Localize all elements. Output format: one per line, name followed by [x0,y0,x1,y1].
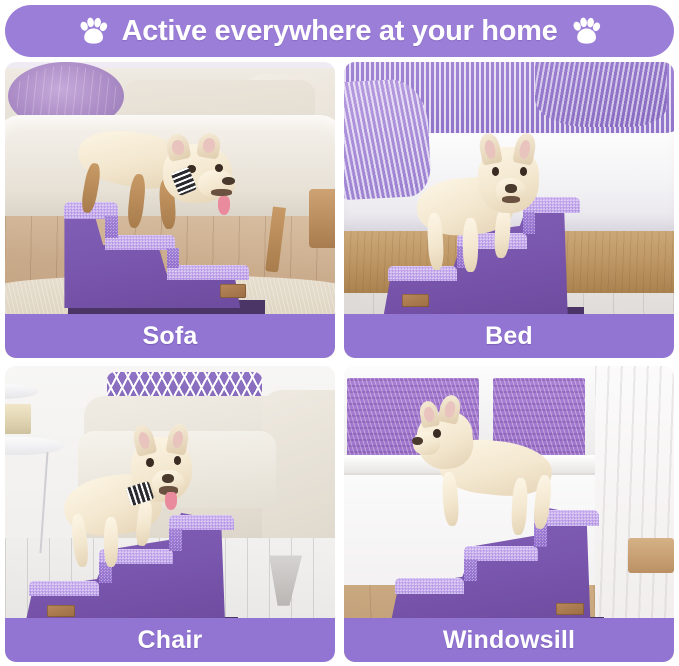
brand-logo-tag [47,605,75,617]
panel-label-windowsill: Windowsill [443,626,575,655]
paw-print-icon [571,17,601,45]
panel-sofa[interactable]: Sofa [5,62,335,358]
brand-logo-tag [220,284,247,298]
header-title: Active everywhere at your home [122,15,558,48]
paw-print-icon [78,17,108,45]
panel-label-chair: Chair [138,626,203,655]
label-bar-chair: Chair [5,618,335,662]
panel-bed[interactable]: Bed [344,62,674,358]
header-banner: Active everywhere at your home [5,5,674,57]
label-bar-sofa: Sofa [5,314,335,358]
blanket-fold [535,62,667,127]
stacked-books [5,404,31,434]
french-bulldog [64,425,216,573]
feature-grid: Sofa [5,62,674,662]
panel-windowsill[interactable]: Windowsill [344,366,674,662]
panel-chair[interactable]: Chair [5,366,335,662]
panel-label-bed: Bed [485,322,533,351]
french-bulldog [78,115,250,233]
french-bulldog [417,390,582,532]
label-bar-bed: Bed [344,314,674,358]
brand-logo-tag [556,603,584,616]
panel-label-sofa: Sofa [143,322,198,351]
wooden-stool [628,538,674,574]
french-bulldog [417,133,562,275]
side-table-edge [309,189,335,248]
brand-logo-tag [402,294,429,307]
label-bar-windowsill: Windowsill [344,618,674,662]
